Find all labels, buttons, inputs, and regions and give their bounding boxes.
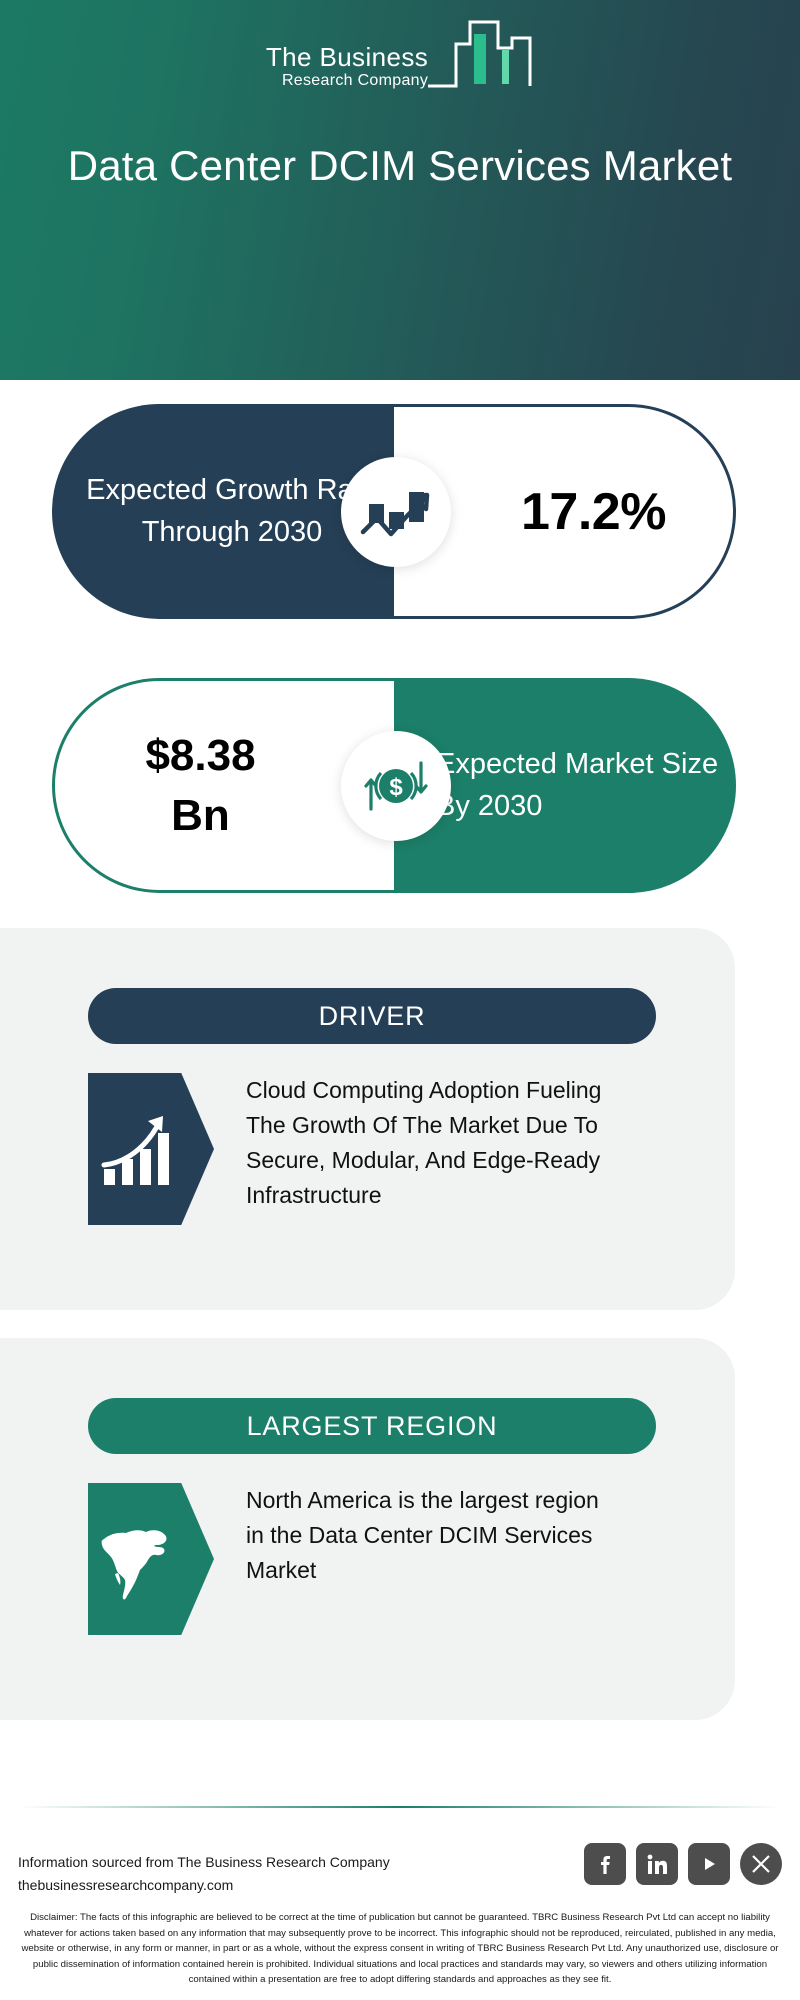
youtube-icon[interactable] <box>688 1843 730 1885</box>
growth-bar-chart-arrow-icon <box>341 457 451 567</box>
rising-bar-chart-arrow-icon <box>88 1073 214 1225</box>
social-links <box>584 1843 782 1885</box>
panel-region-body: North America is the largest region in t… <box>88 1483 695 1635</box>
stat-size-value-line2: Bn <box>145 786 255 846</box>
panel-driver-pill: DRIVER <box>88 988 656 1044</box>
north-america-map-icon <box>88 1483 214 1635</box>
footer-source-line1: Information sourced from The Business Re… <box>18 1851 390 1874</box>
panel-driver-text: Cloud Computing Adoption Fueling The Gro… <box>246 1073 606 1225</box>
stat-card-expected-growth-rate: Expected Growth Rate Through 2030 17.2% <box>52 404 736 619</box>
stat-growth-value: 17.2% <box>461 482 666 542</box>
stat-size-value-line1: $8.38 <box>145 726 255 786</box>
stat-card-expected-market-size: $8.38 Bn Expected Market Size By 2030 $ <box>52 678 736 893</box>
header-banner: The Business Research Company Data Cente… <box>0 0 800 380</box>
panel-region-pill-label: LARGEST REGION <box>247 1411 498 1442</box>
brand-logo: The Business Research Company <box>0 18 800 98</box>
footer-disclaimer: Disclaimer: The facts of this infographi… <box>14 1910 786 1988</box>
panel-driver-pill-label: DRIVER <box>319 1001 426 1032</box>
logo-line-1: The Business <box>266 44 428 70</box>
page-title: Data Center DCIM Services Market <box>60 140 740 193</box>
bar-chart-logo-icon <box>426 18 534 95</box>
stat-size-value: $8.38 Bn <box>145 726 303 846</box>
footer-source: Information sourced from The Business Re… <box>18 1851 390 1897</box>
logo-text: The Business Research Company <box>266 44 428 98</box>
dollar-circular-arrows-icon: $ <box>341 731 451 841</box>
infographic-page: The Business Research Company Data Cente… <box>0 0 800 2000</box>
facebook-icon[interactable] <box>584 1843 626 1885</box>
x-twitter-icon[interactable] <box>740 1843 782 1885</box>
panel-largest-region: LARGEST REGION North America is the larg… <box>0 1338 735 1720</box>
linkedin-icon[interactable] <box>636 1843 678 1885</box>
panel-region-pill: LARGEST REGION <box>88 1398 656 1454</box>
panel-region-text: North America is the largest region in t… <box>246 1483 606 1635</box>
svg-text:$: $ <box>389 774 403 801</box>
logo-line-2: Research Company <box>266 70 428 92</box>
panel-driver: DRIVER Cloud Computing Adoption Fueling … <box>0 928 735 1310</box>
panel-driver-body: Cloud Computing Adoption Fueling The Gro… <box>88 1073 695 1225</box>
footer-divider <box>20 1806 780 1808</box>
footer-website-link[interactable]: thebusinessresearchcompany.com <box>18 1874 390 1897</box>
